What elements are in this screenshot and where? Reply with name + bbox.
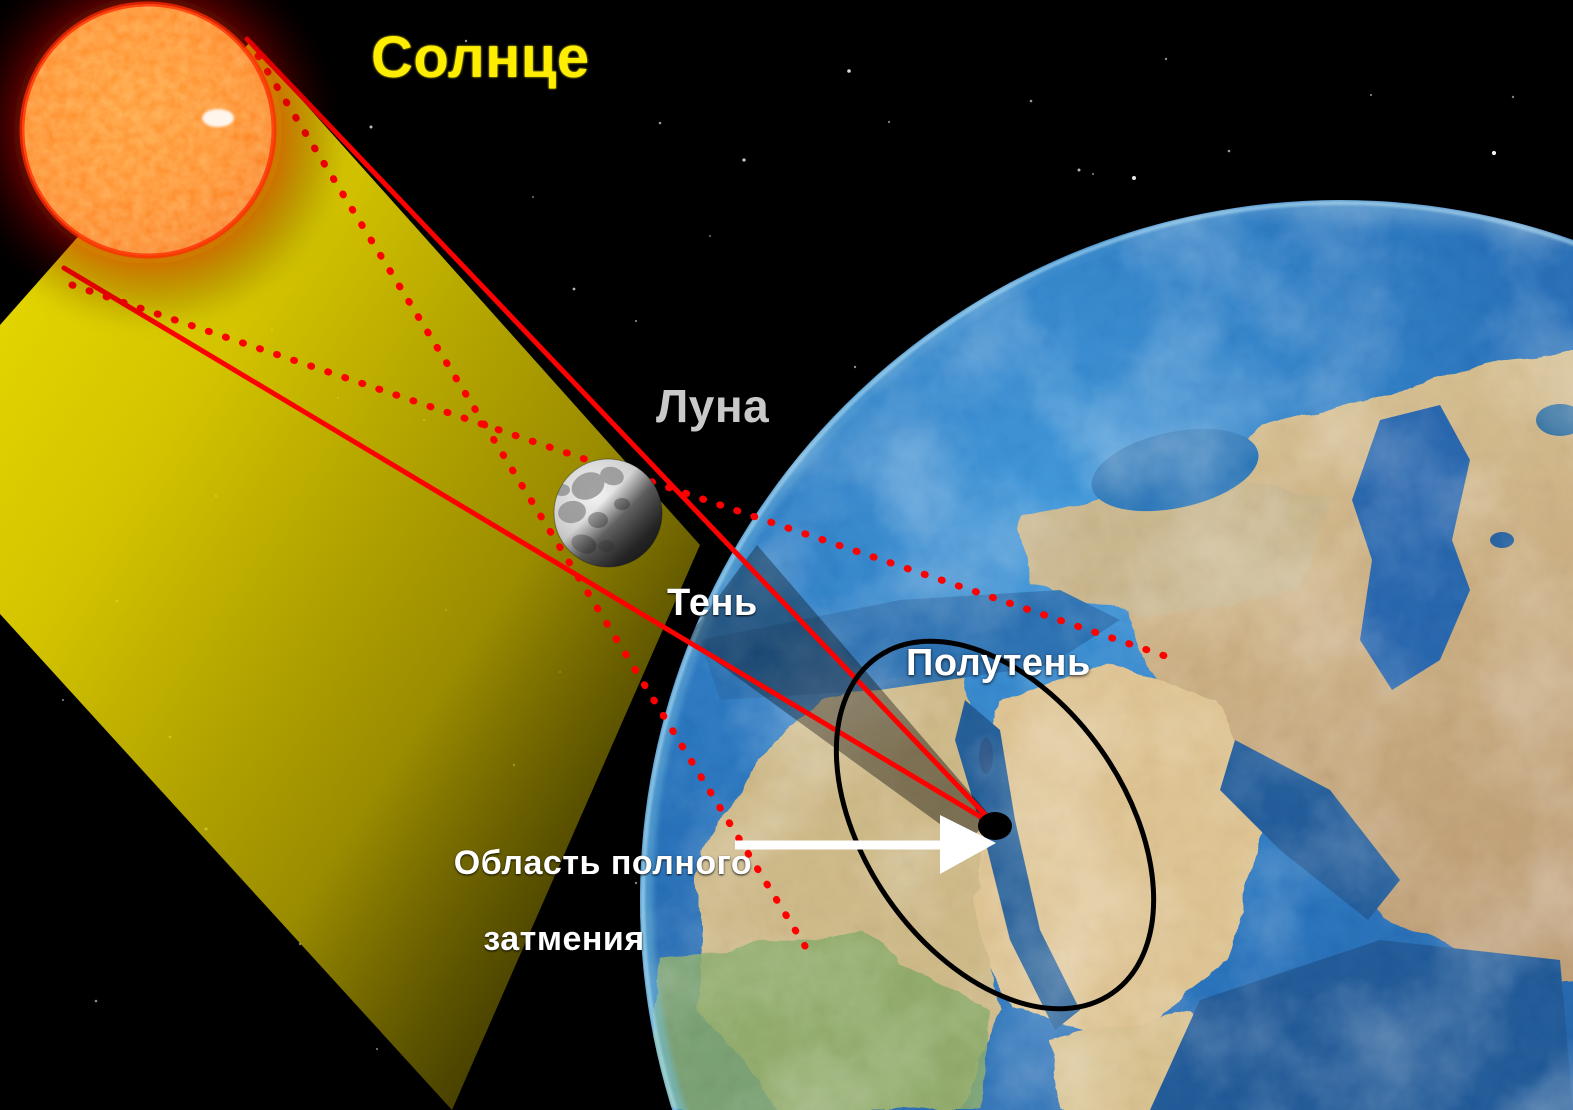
label-umbra: Тень bbox=[667, 582, 758, 625]
eclipse-diagram: Солнце Луна Тень Полутень Область полног… bbox=[0, 0, 1573, 1110]
moon-body bbox=[554, 459, 662, 567]
label-sun: Солнце bbox=[371, 26, 590, 91]
umbra-spot bbox=[978, 812, 1012, 840]
moon-terminator bbox=[554, 459, 662, 567]
sun-flare-spot bbox=[202, 109, 234, 127]
label-totality-line1: Область полного bbox=[454, 844, 752, 882]
eclipse-scene-canvas bbox=[0, 0, 1573, 1110]
label-moon: Луна bbox=[656, 381, 769, 433]
label-penumbra: Полутень bbox=[906, 642, 1091, 685]
label-totality-area: Область полного затмения bbox=[414, 806, 714, 1034]
label-totality-line2: затмения bbox=[414, 920, 714, 958]
